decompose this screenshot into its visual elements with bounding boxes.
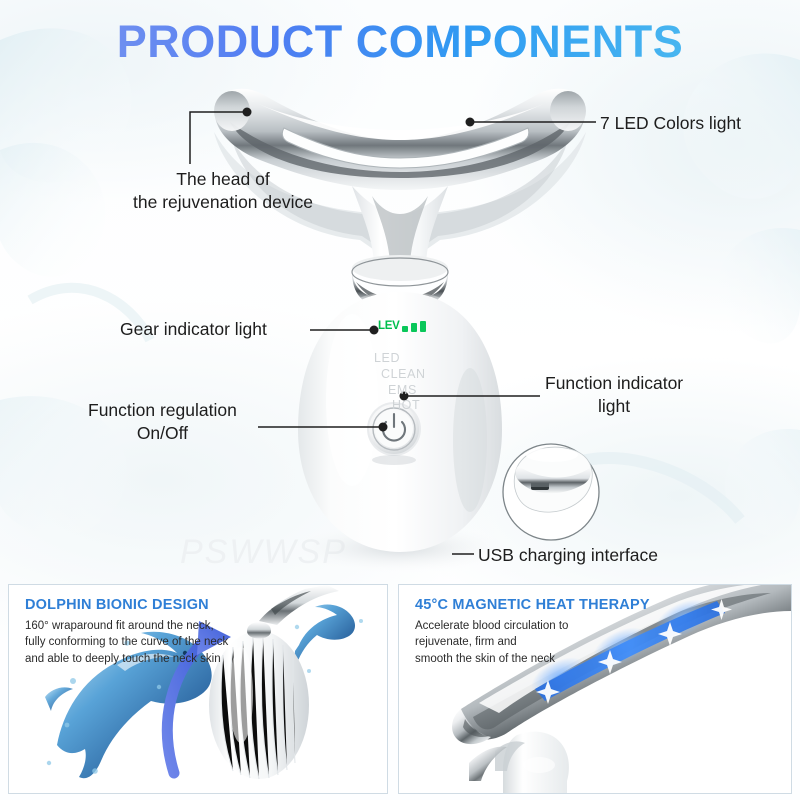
feature-panel-heat: 45°C MAGNETIC HEAT THERAPY Accelerate bl… — [398, 584, 792, 794]
callout-gear-indicator: Gear indicator light — [120, 318, 267, 341]
feature-panels: DOLPHIN BIONIC DESIGN 160° wraparound fi… — [0, 578, 800, 800]
panel-dolphin-body: 160° wraparound fit around the neck, ful… — [25, 618, 228, 667]
callout-function-indicator-line2: light — [545, 395, 683, 418]
device-drawing — [0, 0, 800, 578]
feature-panel-dolphin: DOLPHIN BIONIC DESIGN 160° wraparound fi… — [8, 584, 388, 794]
callout-function-regulation-line2: On/Off — [88, 422, 237, 445]
dolphin-right — [289, 605, 363, 673]
function-led: LED — [374, 351, 400, 365]
level-indicator-row: LEV — [378, 320, 426, 332]
callout-function-indicator: Function indicator light — [545, 372, 683, 418]
usb-inset-graphic — [503, 444, 599, 540]
callout-device-head: The head of the rejuvenation device — [133, 168, 313, 214]
function-ems: EMS — [388, 383, 417, 397]
callout-function-regulation-line1: Function regulation — [88, 399, 237, 422]
level-bars — [402, 321, 426, 332]
panel-heat-heading: 45°C MAGNETIC HEAT THERAPY — [415, 597, 650, 613]
callout-function-regulation: Function regulation On/Off — [88, 399, 237, 445]
level-label: LEV — [378, 320, 399, 332]
level-bar-2 — [411, 323, 417, 332]
level-bar-1 — [402, 326, 408, 332]
callout-led-colors: 7 LED Colors light — [600, 112, 741, 135]
level-bar-3 — [420, 321, 426, 332]
product-illustration — [0, 0, 800, 578]
dolphin-graphics — [9, 585, 388, 794]
callout-device-head-line1: The head of — [133, 168, 313, 191]
function-clean: CLEAN — [381, 367, 426, 381]
function-hot: HOT — [392, 398, 420, 412]
page-title-wrap: PRODUCT COMPONENTS — [0, 16, 800, 68]
heat-therapy-graphics — [399, 585, 792, 794]
panel-dolphin-heading: DOLPHIN BIONIC DESIGN — [25, 597, 209, 613]
callout-usb-charging: USB charging interface — [478, 544, 658, 567]
callout-device-head-line2: the rejuvenation device — [133, 191, 313, 214]
callout-function-indicator-line1: Function indicator — [545, 372, 683, 395]
page-title: PRODUCT COMPONENTS — [117, 16, 684, 68]
panel-heat-body: Accelerate blood circulation to rejuvena… — [415, 618, 568, 667]
